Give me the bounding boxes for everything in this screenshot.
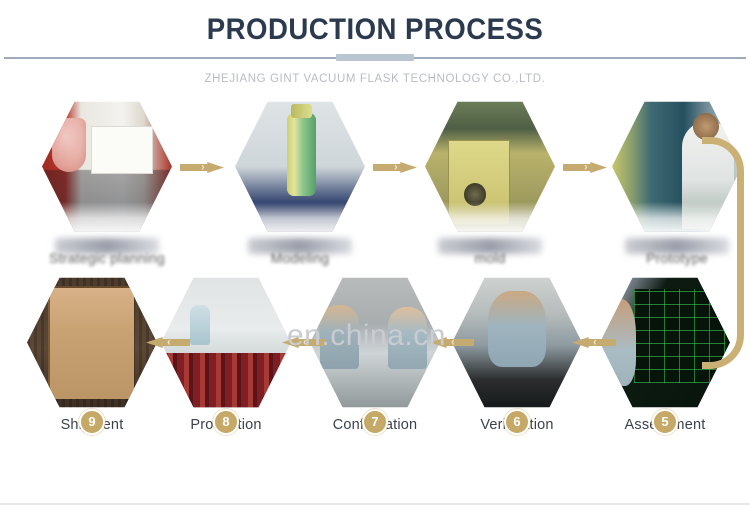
page-header: PRODUCTION PROCESS ZHEJIANG GINT VACUUM …: [0, 0, 750, 85]
step-label: Modeling: [235, 250, 365, 266]
title-divider: [0, 54, 750, 62]
production-process-flow: Strategic planning › Modeling ›: [0, 93, 750, 493]
flow-arrow-2-3: ›: [373, 162, 417, 173]
cartons-container-photo: [27, 275, 157, 410]
flow-arrow-1-2: ›: [180, 162, 224, 173]
divider-center-nub: [336, 54, 414, 61]
mold-image: [425, 99, 555, 234]
meeting-presentation-photo: [42, 99, 172, 234]
office-meeting-photo: [310, 275, 440, 410]
step-badge-6: 6: [504, 409, 530, 435]
page-title: PRODUCTION PROCESS: [30, 12, 720, 48]
process-row-2: 9 Shipment ‹ 8 Production ‹ 7 Confirmati…: [0, 275, 750, 450]
flow-arrow-3-4: ›: [563, 162, 607, 173]
chevron-left-icon: ‹: [593, 337, 597, 348]
chevron-right-icon: ›: [584, 162, 588, 173]
caption-wrap: mold: [425, 250, 555, 266]
flow-connector-curve: [702, 137, 744, 333]
process-step-strategic-planning[interactable]: Strategic planning: [42, 99, 172, 266]
process-step-modeling[interactable]: Modeling: [235, 99, 365, 266]
process-step-confirmation[interactable]: 7 Confirmation: [310, 275, 440, 433]
step-label: mold: [425, 250, 555, 266]
chevron-right-icon: ›: [201, 162, 205, 173]
process-step-mold[interactable]: mold: [425, 99, 555, 266]
process-step-production[interactable]: 8 Production: [161, 275, 291, 433]
caption-wrap: Modeling: [235, 250, 365, 266]
step-badge-9: 9: [79, 409, 105, 435]
step-badge-8: 8: [213, 409, 239, 435]
caption-wrap: Strategic planning: [42, 250, 172, 266]
process-row-1: Strategic planning › Modeling ›: [0, 93, 750, 268]
mold-machine-photo: [425, 99, 555, 234]
step-badge-5: 5: [652, 409, 678, 435]
confirmation-image: [310, 275, 440, 410]
strategic-planning-image: [42, 99, 172, 234]
process-step-verification[interactable]: 6 Verification: [452, 275, 582, 433]
company-subtitle: ZHEJIANG GINT VACUUM FLASK TECHNOLOGY CO…: [0, 73, 750, 85]
chevron-left-icon: ‹: [303, 337, 307, 348]
modeling-image: [235, 99, 365, 234]
process-step-shipment[interactable]: 9 Shipment: [27, 275, 157, 433]
step-label: Strategic planning: [42, 250, 172, 266]
chevron-right-icon: ›: [394, 162, 398, 173]
3d-model-flask-photo: [235, 99, 365, 234]
shipment-image: [27, 275, 157, 410]
step-badge-7: 7: [362, 409, 388, 435]
